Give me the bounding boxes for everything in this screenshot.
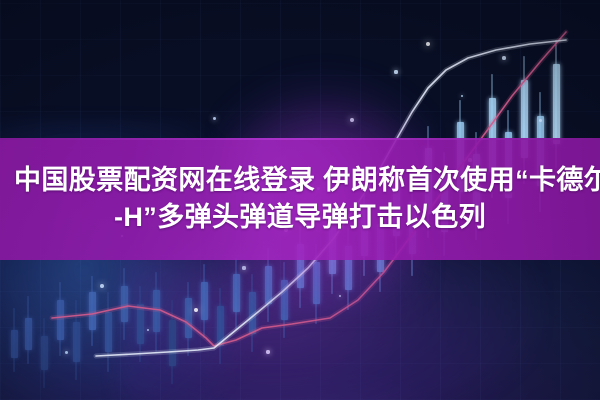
banner-image: 中国股票配资网在线登录 伊朗称首次使用“卡德尔 -H”多弹头弹道导弹打击以色列 [0,0,600,400]
headline-line-2: -H”多弹头弹道导弹打击以色列 [114,200,486,235]
headline-text-block: 中国股票配资网在线登录 伊朗称首次使用“卡德尔 -H”多弹头弹道导弹打击以色列 [0,138,600,260]
headline-line-1: 中国股票配资网在线登录 伊朗称首次使用“卡德尔 [14,163,600,198]
